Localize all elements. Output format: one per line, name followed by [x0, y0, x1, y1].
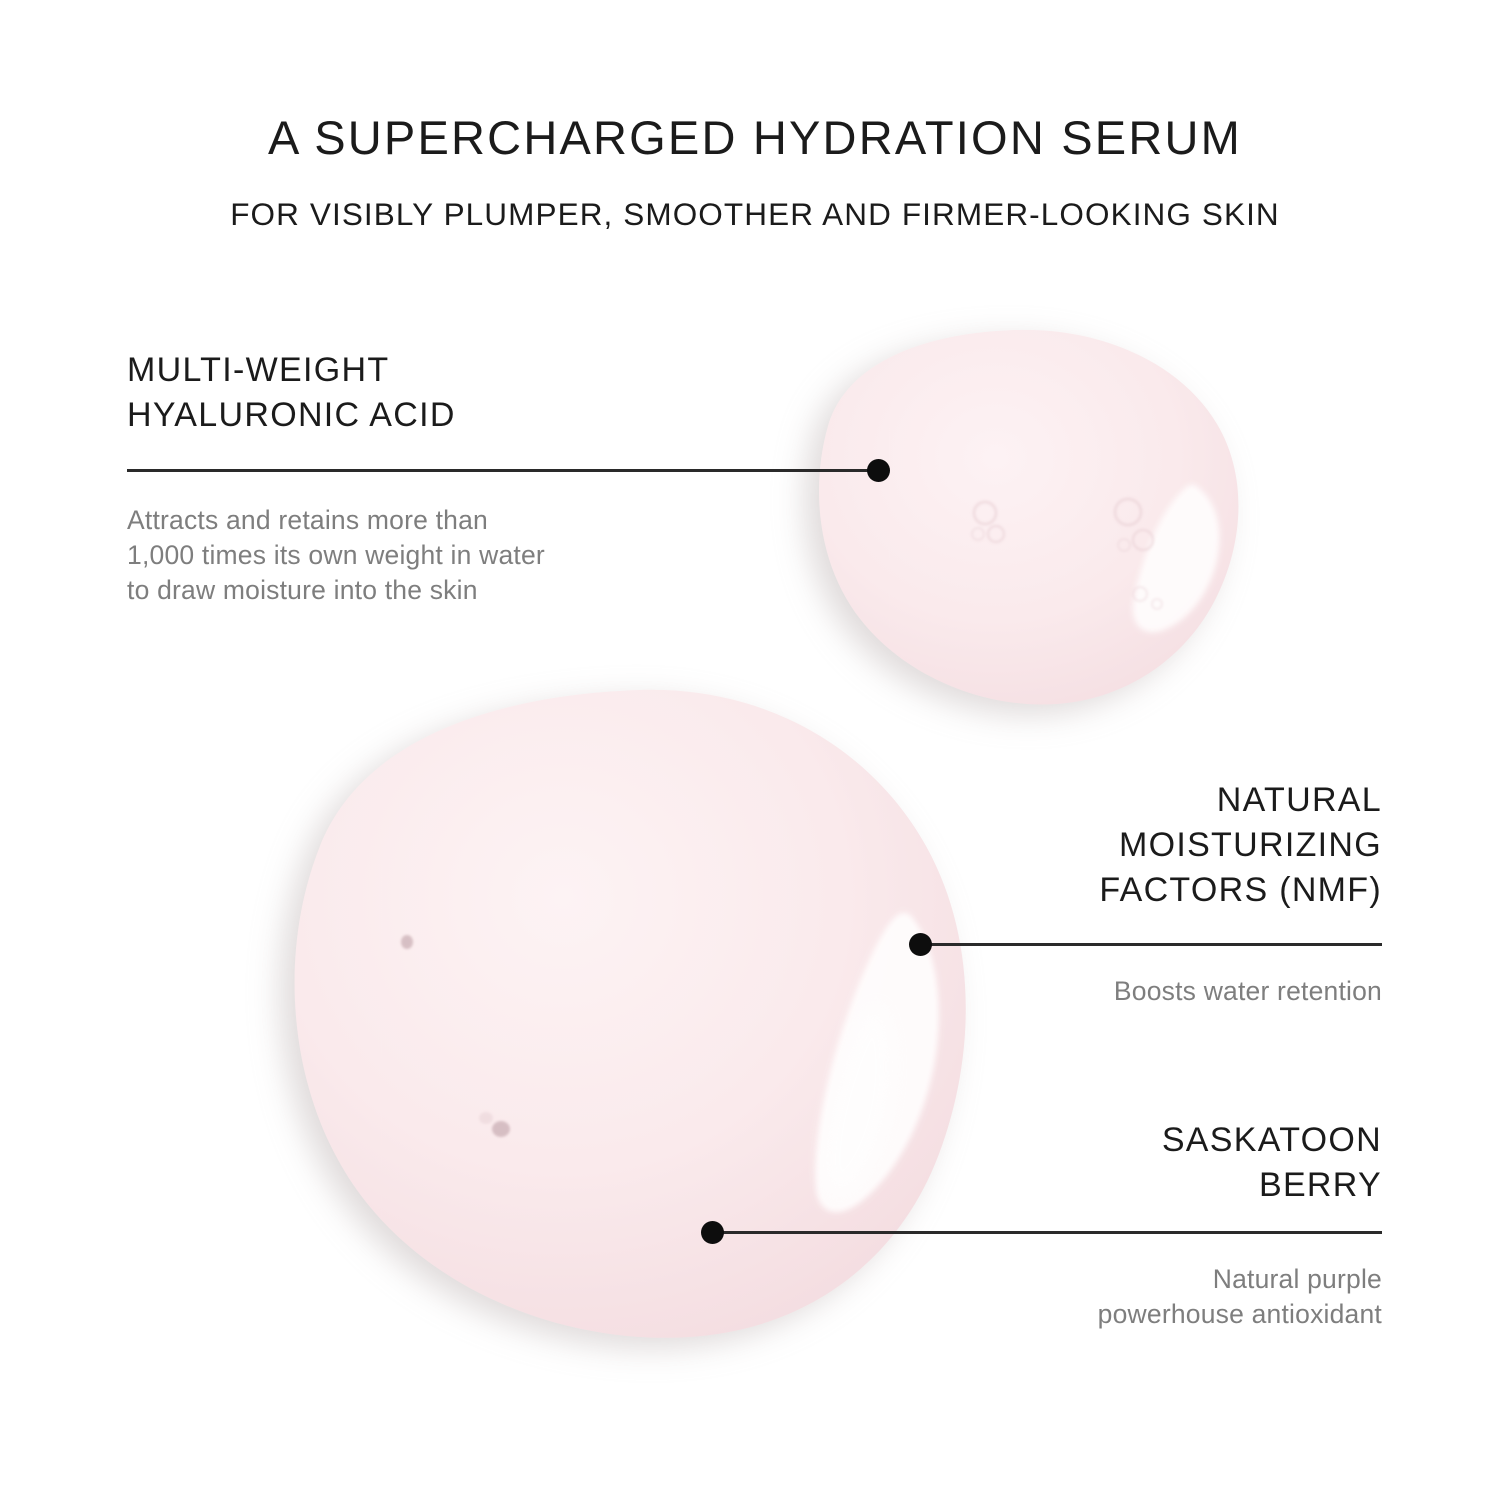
page-subtitle: FOR VISIBLY PLUMPER, SMOOTHER AND FIRMER… — [128, 196, 1382, 233]
callout-rule-natural-moisturizing-factors — [930, 943, 1382, 946]
callout-description-saskatoon-berry: Natural purplepowerhouse antioxidant — [742, 1262, 1382, 1332]
page-title: A SUPERCHARGED HYDRATION SERUM — [128, 110, 1382, 165]
callout-dot-saskatoon-berry — [701, 1221, 724, 1244]
callout-dot-natural-moisturizing-factors — [909, 933, 932, 956]
callout-description-natural-moisturizing-factors: Boosts water retention — [742, 974, 1382, 1009]
callout-title-hyaluronic-acid: MULTI-WEIGHTHYALURONIC ACID — [127, 348, 767, 438]
product-infographic: A SUPERCHARGED HYDRATION SERUM FOR VISIB… — [0, 0, 1500, 1500]
callout-description-hyaluronic-acid: Attracts and retains more than1,000 time… — [127, 503, 767, 608]
small-droplet-highlight — [1133, 485, 1220, 633]
callout-title-saskatoon-berry: SASKATOONBERRY — [742, 1118, 1382, 1208]
large-droplet-speckles — [401, 935, 510, 1137]
callout-rule-saskatoon-berry — [723, 1231, 1382, 1234]
small-droplet-bubbles — [972, 499, 1162, 609]
callout-dot-hyaluronic-acid — [867, 459, 890, 482]
serum-droplet-small — [819, 330, 1238, 705]
callout-title-natural-moisturizing-factors: NATURALMOISTURIZINGFACTORS (NMF) — [742, 778, 1382, 913]
callout-rule-hyaluronic-acid — [127, 469, 879, 472]
